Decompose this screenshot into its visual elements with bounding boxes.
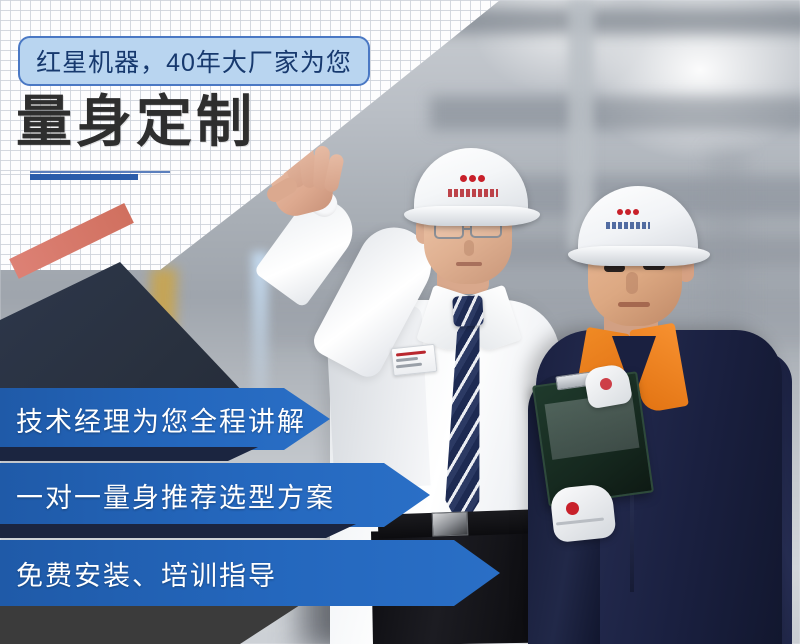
feature-banner-2: 一对一量身推荐选型方案 <box>0 463 430 527</box>
engineer-glasses-bridge <box>463 228 472 230</box>
promo-banner: 红星机器，40年大厂家为您 量身定制 技术经理为您全程讲解 一对一量身推荐选型方… <box>0 0 800 644</box>
feature-banner-1-label: 技术经理为您全程讲解 <box>0 400 306 439</box>
factory-beam <box>430 96 800 130</box>
feature-banner-1: 技术经理为您全程讲解 <box>0 388 330 450</box>
engineer-belt-buckle <box>432 511 469 536</box>
engineer-tie-knot <box>452 295 484 327</box>
hard-hat-logo-text <box>606 222 650 229</box>
page-title: 量身定制 <box>16 94 256 150</box>
hard-hat-logo-text <box>448 189 498 197</box>
glove-logo-icon <box>566 502 579 515</box>
engineer-hard-hat-brim <box>404 206 540 226</box>
engineer-nose <box>464 240 474 256</box>
headline-badge-label: 红星机器，40年大厂家为您 <box>36 43 352 79</box>
worker-glove <box>549 483 616 543</box>
feature-banner-2-label: 一对一量身推荐选型方案 <box>0 476 335 515</box>
feature-banner-3-label: 免费安装、培训指导 <box>0 554 277 593</box>
headline-badge: 红星机器，40年大厂家为您 <box>18 36 370 86</box>
worker-mouth <box>618 302 650 307</box>
engineer-mouth <box>456 262 482 266</box>
headline-rule-thin <box>30 171 170 173</box>
factory-column <box>708 150 748 330</box>
hard-hat-logo-icon <box>450 168 494 188</box>
hard-hat-logo-icon <box>608 204 648 220</box>
worker-nose <box>626 272 638 294</box>
headline-rule-thick <box>30 174 138 180</box>
feature-banner-3: 免费安装、培训指导 <box>0 540 500 606</box>
worker-hard-hat-brim <box>568 246 710 266</box>
